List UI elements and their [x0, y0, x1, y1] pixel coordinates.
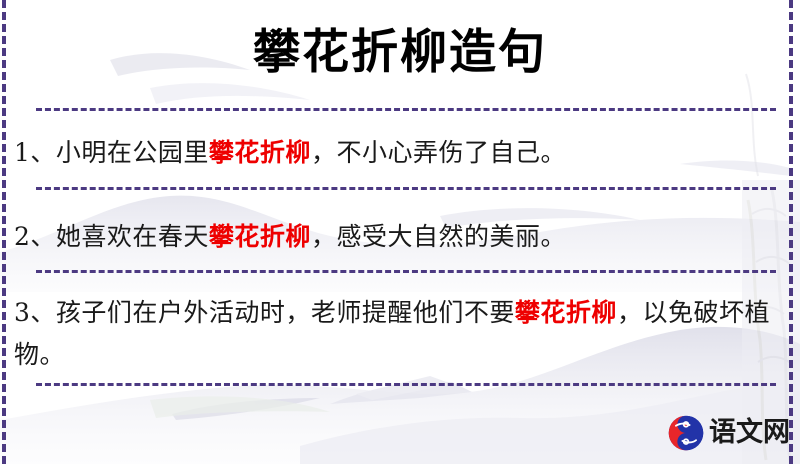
separator-4: [36, 383, 776, 386]
sentence-1-after: ，不小心弄伤了自己。: [311, 138, 566, 167]
sentence-1-keyword: 攀花折柳: [209, 138, 311, 167]
site-logo-text: 语文网: [709, 418, 790, 448]
yinyang-circle-icon: [668, 415, 704, 451]
sentence-item-3: 3、孩子们在户外活动时，老师提醒他们不要攀花折柳，以免破坏植物。: [14, 292, 776, 376]
sentence-item-2: 2、她喜欢在春天攀花折柳，感受大自然的美丽。: [14, 216, 776, 258]
sentence-3-before: 孩子们在户外活动时，老师提醒他们不要: [56, 298, 515, 327]
sentence-1-before: 小明在公园里: [56, 138, 209, 167]
separator-3: [36, 270, 776, 273]
sentence-2-number: 2、: [14, 222, 56, 251]
site-logo[interactable]: 语文网: [668, 412, 790, 454]
sentence-2-before: 她喜欢在春天: [56, 222, 209, 251]
separator-2: [36, 187, 776, 190]
sentence-2-keyword: 攀花折柳: [209, 222, 311, 251]
page-title: 攀花折柳造句: [0, 22, 800, 84]
sentence-3-keyword: 攀花折柳: [515, 298, 617, 327]
sentence-item-1: 1、小明在公园里攀花折柳，不小心弄伤了自己。: [14, 132, 776, 174]
sentence-2-after: ，感受大自然的美丽。: [311, 222, 566, 251]
sentence-1-number: 1、: [14, 138, 56, 167]
slide-page: 攀花折柳造句 1、小明在公园里攀花折柳，不小心弄伤了自己。 2、她喜欢在春天攀花…: [0, 0, 800, 464]
separator-1: [36, 108, 776, 111]
sentence-3-number: 3、: [14, 298, 56, 327]
